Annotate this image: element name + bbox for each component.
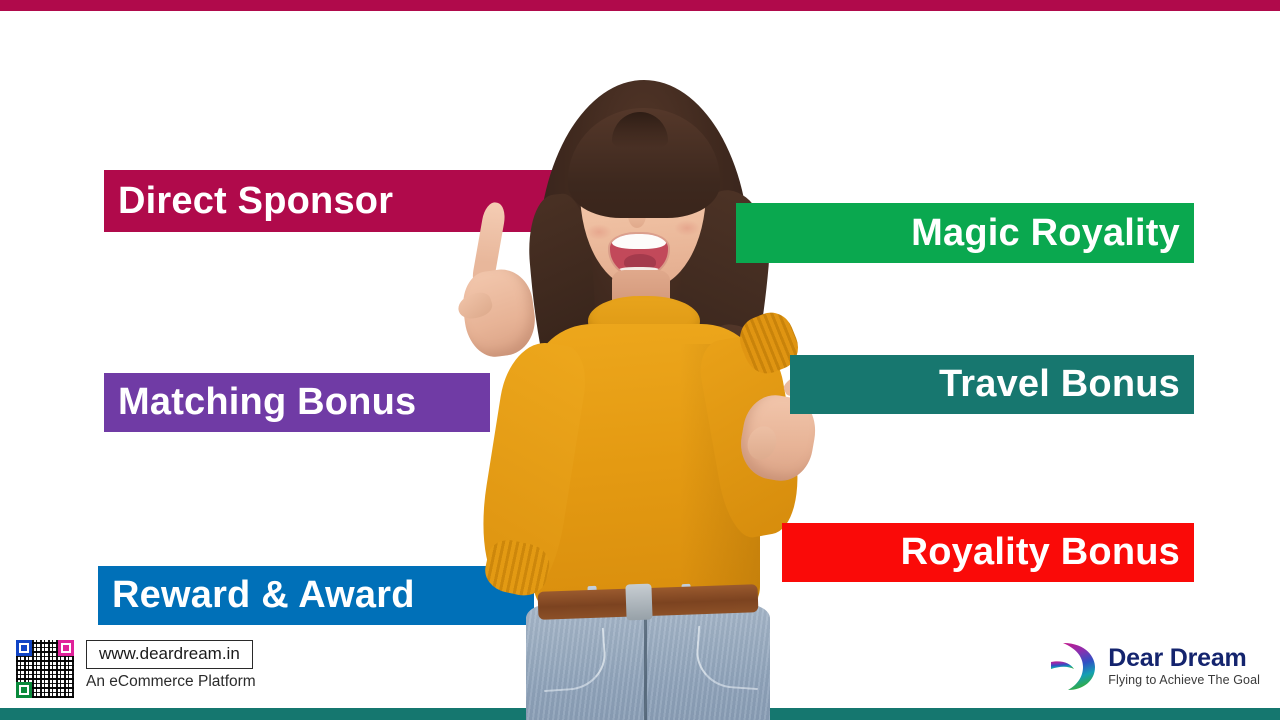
platform-subtitle: An eCommerce Platform — [86, 673, 256, 691]
hero-photo — [430, 74, 850, 708]
banner-travel-bonus-label: Travel Bonus — [939, 363, 1180, 406]
brand-name: Dear Dream — [1108, 645, 1260, 671]
footer-brand-group[interactable]: Dear Dream Flying to Achieve The Goal — [1048, 640, 1260, 692]
banner-royality-bonus[interactable]: Royality Bonus — [782, 523, 1194, 582]
qr-finder-top-right — [58, 640, 74, 656]
slide-canvas: Direct Sponsor Matching Bonus Reward & A… — [0, 0, 1280, 720]
banner-reward-award-label: Reward & Award — [112, 574, 415, 617]
top-accent-bar — [0, 0, 1280, 11]
brand-text-block: Dear Dream Flying to Achieve The Goal — [1108, 645, 1260, 687]
cheek-left — [586, 224, 612, 240]
qr-code-icon[interactable] — [16, 640, 74, 698]
crescent-swoosh-logo-icon — [1048, 640, 1098, 692]
banner-magic-royality-label: Magic Royality — [911, 212, 1180, 255]
person-illustration — [430, 74, 850, 708]
footer-left-text: www.deardream.in An eCommerce Platform — [86, 640, 256, 691]
banner-royality-bonus-label: Royality Bonus — [901, 531, 1180, 574]
banner-magic-royality[interactable]: Magic Royality — [736, 203, 1194, 263]
website-url[interactable]: www.deardream.in — [86, 640, 253, 669]
cheek-right — [674, 220, 700, 236]
brand-tagline: Flying to Achieve The Goal — [1108, 673, 1260, 687]
belt-buckle — [625, 584, 652, 621]
qr-finder-bottom-left — [16, 682, 32, 698]
banner-matching-bonus-label: Matching Bonus — [118, 381, 416, 424]
banner-direct-sponsor-label: Direct Sponsor — [118, 180, 393, 223]
qr-finder-top-left — [16, 640, 32, 656]
footer-left-group: www.deardream.in An eCommerce Platform — [16, 640, 256, 698]
jeans-fly-seam — [644, 616, 647, 720]
banner-travel-bonus[interactable]: Travel Bonus — [790, 355, 1194, 414]
teeth-upper — [612, 234, 666, 249]
